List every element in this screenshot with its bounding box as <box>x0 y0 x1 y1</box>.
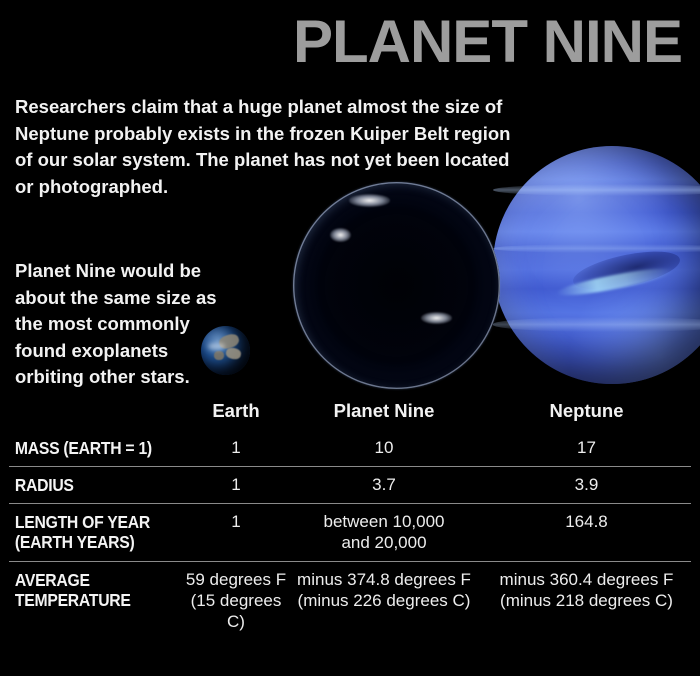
neptune-band <box>493 317 700 331</box>
cell-mass-neptune: 17 <box>479 437 694 458</box>
cell-length-of-year-neptune: 164.8 <box>479 511 694 532</box>
table-row: AVERAGE TEMPERATURE 59 degrees F (15 deg… <box>0 562 700 640</box>
cell-length-of-year-nine: between 10,000 and 20,000 <box>289 511 479 553</box>
cell-radius-neptune: 3.9 <box>479 474 694 495</box>
cell-average-temperature-earth: 59 degrees F (15 degrees C) <box>183 569 289 632</box>
comparison-table: Earth Planet Nine Neptune MASS (EARTH = … <box>0 400 700 640</box>
planet-nine-infographic: PLANET NINE Researchers claim that a hug… <box>0 0 700 676</box>
table-header-planet-nine: Planet Nine <box>289 400 479 421</box>
table-header-row: Earth Planet Nine Neptune <box>0 400 700 430</box>
row-label-average-temperature: AVERAGE TEMPERATURE <box>5 569 165 610</box>
table-row: RADIUS 1 3.7 3.9 <box>0 467 700 503</box>
table-header-earth: Earth <box>183 400 289 421</box>
cell-mass-earth: 1 <box>183 437 289 458</box>
table-header-neptune: Neptune <box>479 400 694 421</box>
intro-paragraph-2: Planet Nine would be about the same size… <box>15 258 230 391</box>
page-title: PLANET NINE <box>0 10 682 74</box>
row-label-mass: MASS (EARTH = 1) <box>5 437 165 458</box>
cell-radius-earth: 1 <box>183 474 289 495</box>
cell-length-of-year-earth: 1 <box>183 511 289 532</box>
earth-landmass <box>214 351 224 360</box>
intro-paragraph-1: Researchers claim that a huge planet alm… <box>15 94 515 200</box>
neptune-band <box>493 184 700 196</box>
cell-mass-nine: 10 <box>289 437 479 458</box>
neptune-image <box>493 146 700 384</box>
planet-nine-image <box>293 182 500 389</box>
planet-nine-limb <box>293 182 500 389</box>
earth-cloud <box>208 343 225 351</box>
row-label-radius: RADIUS <box>5 474 165 495</box>
row-label-length-of-year: LENGTH OF YEAR (EARTH YEARS) <box>5 511 165 552</box>
cell-radius-nine: 3.7 <box>289 474 479 495</box>
planet-nine-cloud <box>421 312 452 323</box>
table-row: MASS (EARTH = 1) 1 10 17 <box>0 430 700 466</box>
cell-average-temperature-neptune: minus 360.4 degrees F (minus 218 degrees… <box>479 569 694 611</box>
earth-image <box>201 326 250 375</box>
table-row: LENGTH OF YEAR (EARTH YEARS) 1 between 1… <box>0 504 700 561</box>
cell-average-temperature-nine: minus 374.8 degrees F (minus 226 degrees… <box>289 569 479 611</box>
planet-nine-cloud <box>330 228 351 242</box>
earth-landmass <box>226 346 243 360</box>
